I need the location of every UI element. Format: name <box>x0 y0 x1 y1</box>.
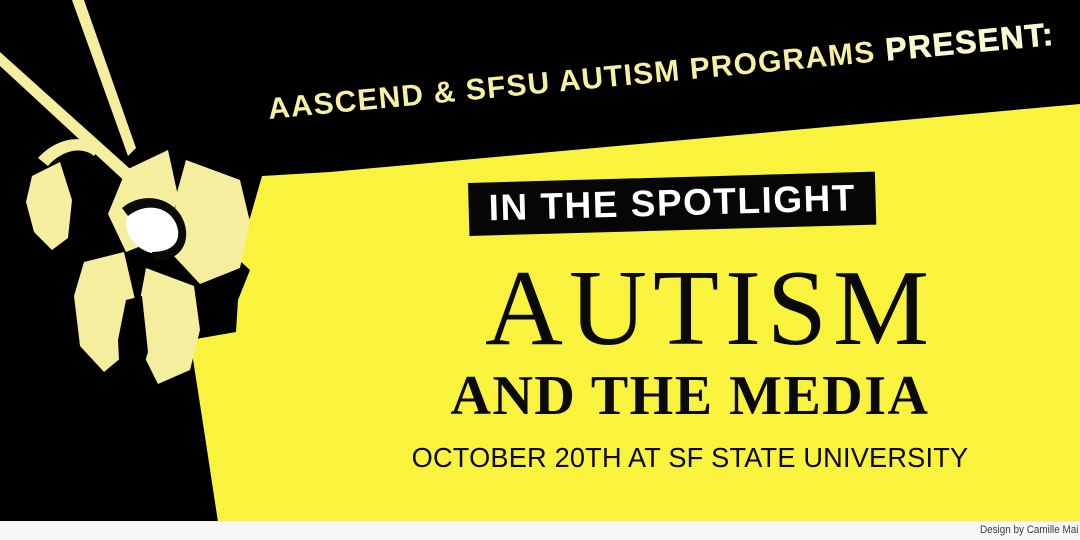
credit-text: Design by Camille Mai <box>980 524 1078 536</box>
spotlight-banner-label: IN THE SPOTLIGHT <box>488 179 856 226</box>
title-date-location: OCTOBER 20TH AT SF STATE UNIVERSITY <box>409 444 972 472</box>
title-subtitle: AND THE MEDIA <box>395 368 985 424</box>
poster-canvas: AASCEND & SFSU AUTISM PROGRAMS PRESENT: … <box>0 0 1080 540</box>
credit-strip: Design by Camille Mai <box>0 521 1080 540</box>
title-main: AUTISM <box>440 255 980 363</box>
spotlight-banner: IN THE SPOTLIGHT <box>468 172 877 236</box>
